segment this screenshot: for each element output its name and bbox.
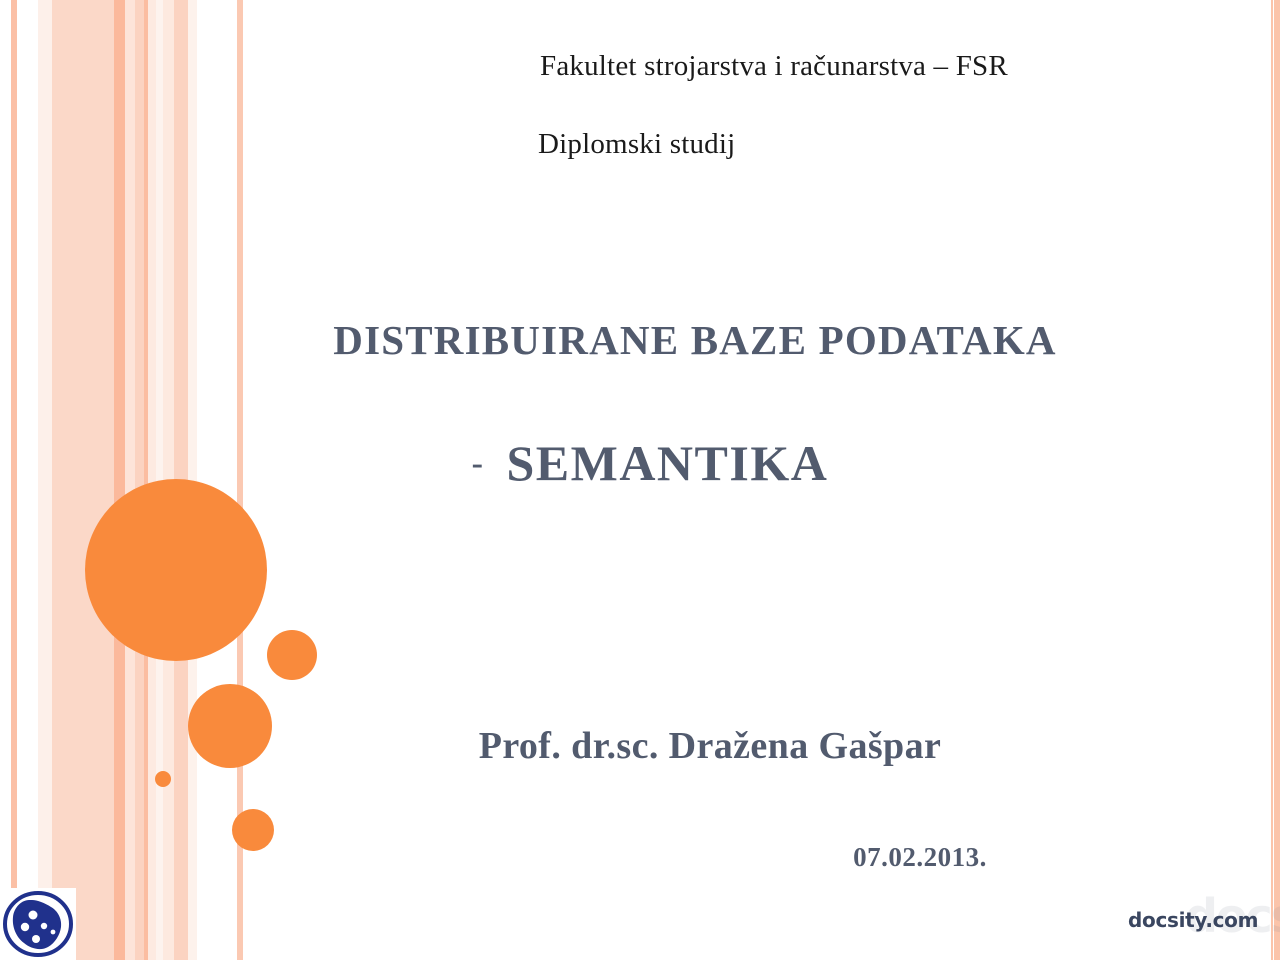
slide-date: 07.02.2013. — [0, 842, 1280, 873]
author-name: Prof. dr.sc. Dražena Gašpar — [0, 724, 1280, 768]
cookie-icon — [0, 888, 76, 960]
circle-small-right — [267, 630, 317, 680]
institution-line: Fakultet strojarstva i računarstva – FSR — [540, 50, 1008, 83]
slide-title: DISTRIBUIRANE BAZE PODATAKA — [0, 316, 1280, 364]
slide-subtitle: -SEMANTIKA — [0, 434, 1280, 492]
presentation-slide: Fakultet strojarstva i računarstva – FSR… — [0, 0, 1280, 960]
docsity-cookie-logo — [0, 888, 76, 960]
circle-tiny — [155, 771, 171, 787]
subtitle-dash: - — [472, 445, 485, 482]
watermark-docsity-com: docsity.com — [1128, 908, 1258, 932]
program-line: Diplomski studij — [538, 128, 735, 161]
subtitle-text: SEMANTIKA — [506, 435, 828, 491]
circle-large — [85, 479, 267, 661]
